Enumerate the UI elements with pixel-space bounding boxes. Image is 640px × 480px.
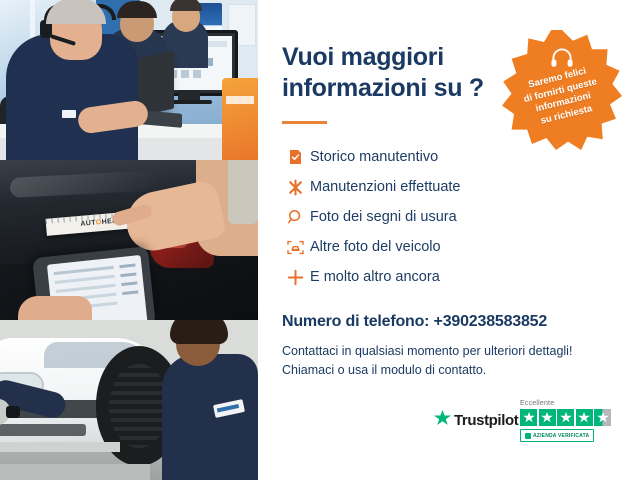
plus-icon: [280, 269, 310, 286]
contact-line-1: Contattaci in qualsiasi momento per ulte…: [282, 344, 572, 358]
list-item: Altre foto del veicolo: [280, 232, 540, 262]
page-title: Vuoi maggiori informazioni su ?: [282, 42, 512, 103]
document-check-icon: [280, 149, 310, 165]
feature-label: Altre foto del veicolo: [310, 239, 441, 255]
tablet-holding-hand: [18, 296, 92, 320]
feature-list: Storico manutentivo Manutenzioni effettu…: [280, 142, 540, 292]
trustpilot-widget[interactable]: Trustpilot Eccellente AZIENDA VERIFICATA: [434, 400, 624, 446]
feature-label: E molto altro ancora: [310, 269, 440, 285]
verified-check-icon: [525, 433, 531, 439]
promo-banner: AUTOHERO: [0, 0, 640, 480]
verified-label: AZIENDA VERIFICATA: [533, 433, 589, 439]
heading-line-2: informazioni su ?: [282, 74, 484, 102]
car-on-lift-photo: [0, 320, 258, 480]
list-item: Foto dei segni di usura: [280, 202, 540, 232]
trustpilot-wordmark: Trustpilot: [454, 412, 518, 429]
monitor-stand: [178, 90, 200, 102]
headset-icon: [550, 47, 574, 69]
background-bottle: [228, 160, 258, 224]
heading-line-1: Vuoi maggiori: [282, 43, 444, 71]
magnifier-icon: [280, 209, 310, 225]
star-filled: [576, 409, 593, 426]
rating-label: Eccellente: [520, 400, 554, 407]
call-center-photo: [0, 0, 258, 160]
star-filled: [557, 409, 574, 426]
lift-ramp: [0, 464, 150, 480]
trustpilot-logo: Trustpilot: [434, 410, 518, 431]
feature-label: Storico manutentivo: [310, 149, 438, 165]
star-rating: [520, 409, 611, 426]
photo-strip: AUTOHERO: [0, 0, 258, 480]
phone-number[interactable]: Numero di telefono: +390238583852: [282, 313, 547, 331]
contact-line-2: Chiamaci o usa il modulo di contatto.: [282, 363, 486, 377]
orange-signage: [222, 78, 258, 160]
star-filled: [520, 409, 537, 426]
trustpilot-star-icon: [434, 410, 451, 431]
wrench-tools-icon: [280, 179, 310, 196]
verified-company-badge: AZIENDA VERIFICATA: [520, 429, 594, 442]
wrist-watch: [6, 406, 20, 418]
title-divider: [282, 121, 327, 124]
car-scan-icon: [280, 240, 310, 255]
agent-foreground: [6, 34, 138, 160]
contact-description: Contattaci in qualsiasi momento per ulte…: [282, 342, 612, 381]
feature-label: Manutenzioni effettuate: [310, 179, 460, 195]
star-half: [594, 409, 611, 426]
list-item: Storico manutentivo: [280, 142, 540, 172]
feature-label: Foto dei segni di usura: [310, 209, 457, 225]
list-item: E molto altro ancora: [280, 262, 540, 292]
headset-band-icon: [44, 4, 116, 20]
list-item: Manutenzioni effettuate: [280, 172, 540, 202]
technician: [162, 354, 258, 480]
promo-badge: Saremo felici di fornirti queste informa…: [502, 30, 622, 150]
star-filled: [539, 409, 556, 426]
autohero-ruler-photo: AUTOHERO: [0, 160, 258, 320]
